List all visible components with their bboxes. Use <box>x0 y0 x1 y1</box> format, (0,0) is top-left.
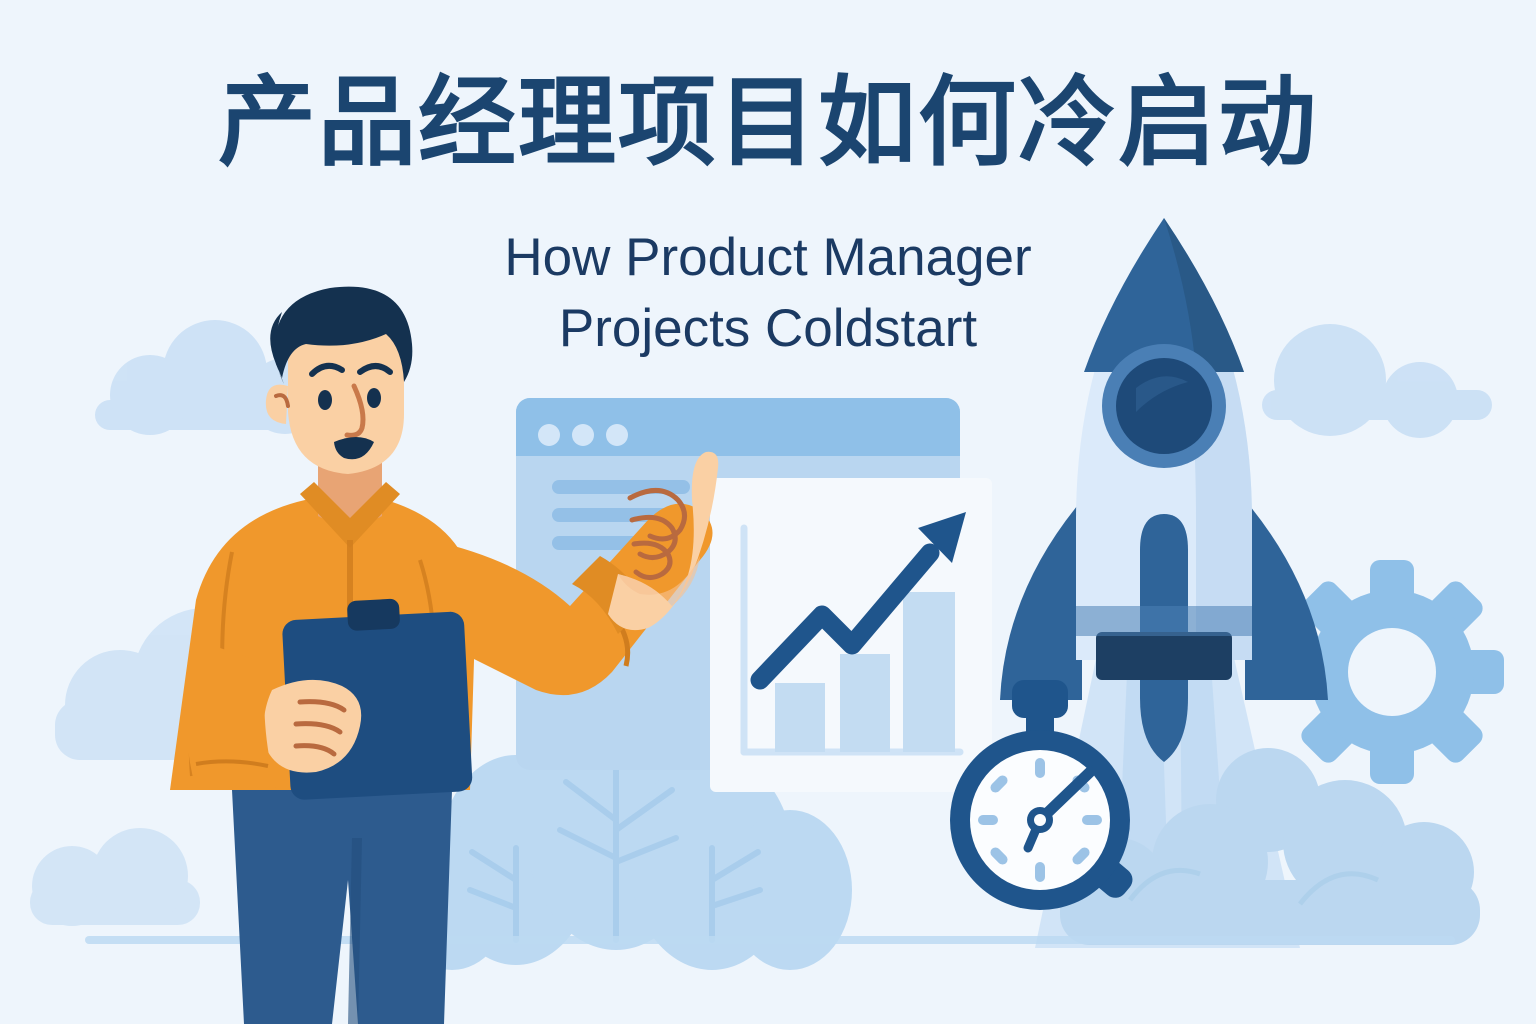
character-trousers <box>232 790 452 1024</box>
browser-dot-2 <box>572 424 594 446</box>
character-eye-right <box>367 388 381 408</box>
chart-bar-2 <box>840 654 890 752</box>
chart-bar-1 <box>775 683 825 752</box>
rocket-fin-left <box>1000 500 1082 700</box>
growth-chart-card[interactable] <box>710 478 992 792</box>
character-eye-left <box>318 390 332 410</box>
browser-dot-3 <box>606 424 628 446</box>
rocket-engine-base <box>1096 632 1232 680</box>
rocket-window <box>1116 358 1212 454</box>
character-head <box>266 287 413 474</box>
character-sleeve-left <box>186 640 276 790</box>
chart-bar-3 <box>903 592 955 752</box>
foreground-illustration <box>0 0 1536 1024</box>
clipboard-clip <box>347 598 400 631</box>
poster-canvas: 产品经理项目如何冷启动 How Product Manager Projects… <box>0 0 1536 1024</box>
browser-dot-1 <box>538 424 560 446</box>
browser-window-dots <box>538 424 628 446</box>
